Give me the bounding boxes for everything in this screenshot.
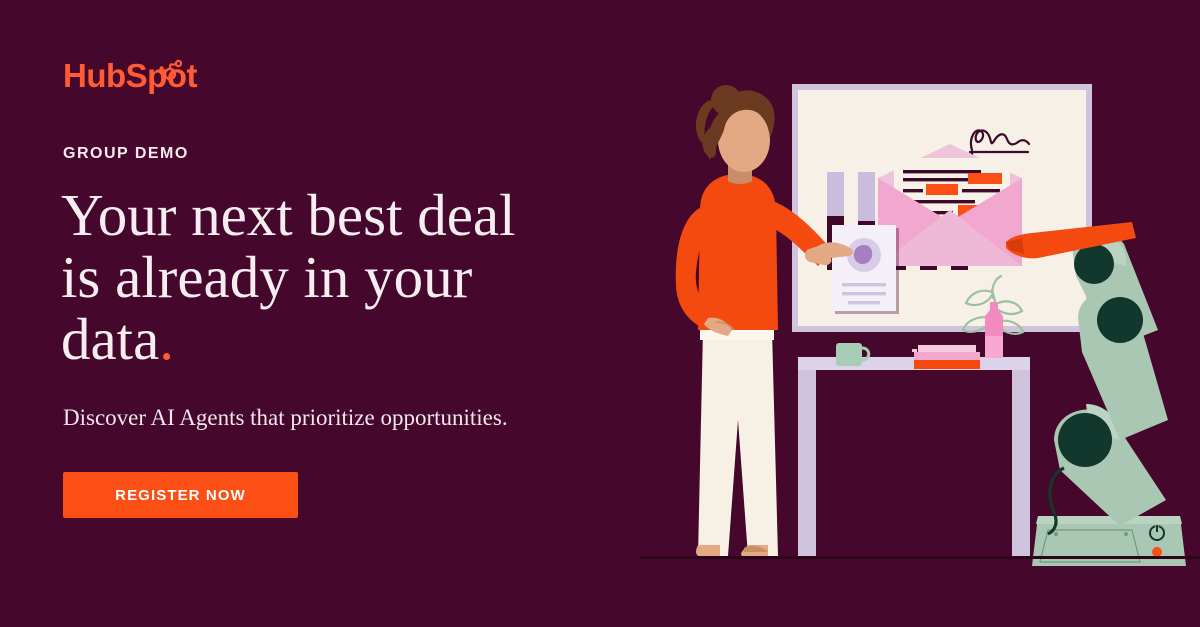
headline-line-2: is already in your	[61, 244, 472, 310]
robot-joint-upper	[1074, 244, 1114, 284]
register-now-button[interactable]: REGISTER NOW	[63, 472, 298, 518]
page-title: Your next best deal is already in your d…	[61, 184, 661, 370]
eyebrow-label: GROUP DEMO	[63, 145, 189, 163]
status-indicator	[1152, 547, 1162, 557]
headline-line-3: data	[61, 306, 159, 372]
hero-illustration	[620, 0, 1200, 627]
hubspot-sprocket-icon	[159, 59, 183, 83]
contact-card	[832, 225, 899, 314]
robot-joint-lower	[1058, 413, 1112, 467]
subheading: Discover AI Agents that prioritize oppor…	[63, 403, 663, 433]
book-stack	[912, 345, 980, 369]
envelope-graphic	[878, 144, 1022, 266]
whiteboard	[792, 84, 1092, 332]
robot-joint-middle	[1097, 297, 1143, 343]
headline-period: .	[159, 306, 174, 372]
headline-line-1: Your next best deal	[61, 182, 515, 248]
hubspot-promo-banner: HubSpot GROUP DEMO Your next best deal i…	[0, 0, 1200, 627]
floor-line	[640, 556, 1200, 559]
hubspot-logo[interactable]: HubSpot	[63, 58, 197, 92]
